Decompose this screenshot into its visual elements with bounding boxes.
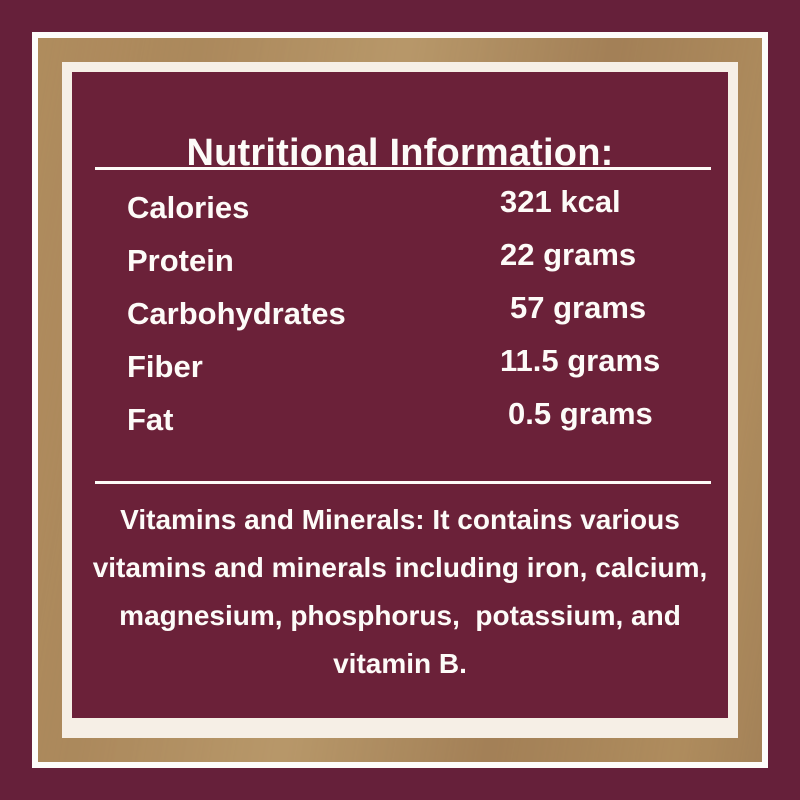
table-row: Fiber11.5 grams bbox=[72, 349, 728, 402]
nutrition-value: 11.5 grams bbox=[500, 343, 660, 379]
vitamins-and-minerals-text: Vitamins and Minerals: It contains vario… bbox=[86, 496, 714, 688]
nutrition-label: Fiber bbox=[127, 349, 203, 385]
table-row: Carbohydrates57 grams bbox=[72, 296, 728, 349]
divider-bottom bbox=[95, 481, 711, 484]
nutrition-label: Carbohydrates bbox=[127, 296, 346, 332]
table-row: Protein22 grams bbox=[72, 243, 728, 296]
nutrition-value: 22 grams bbox=[500, 237, 636, 273]
table-row: Fat0.5 grams bbox=[72, 402, 728, 455]
nutrition-value: 0.5 grams bbox=[508, 396, 653, 432]
nutrition-value: 57 grams bbox=[510, 290, 646, 326]
table-row: Calories321 kcal bbox=[72, 190, 728, 243]
nutritional-information-card: Nutritional Information: Calories321 kca… bbox=[0, 0, 800, 800]
nutrition-label: Protein bbox=[127, 243, 234, 279]
nutrition-table: Calories321 kcalProtein22 gramsCarbohydr… bbox=[72, 190, 728, 455]
content-panel: Nutritional Information: Calories321 kca… bbox=[72, 72, 728, 718]
nutrition-label: Fat bbox=[127, 402, 174, 438]
divider-top bbox=[95, 167, 711, 170]
nutrition-value: 321 kcal bbox=[500, 184, 621, 220]
nutrition-label: Calories bbox=[127, 190, 249, 226]
